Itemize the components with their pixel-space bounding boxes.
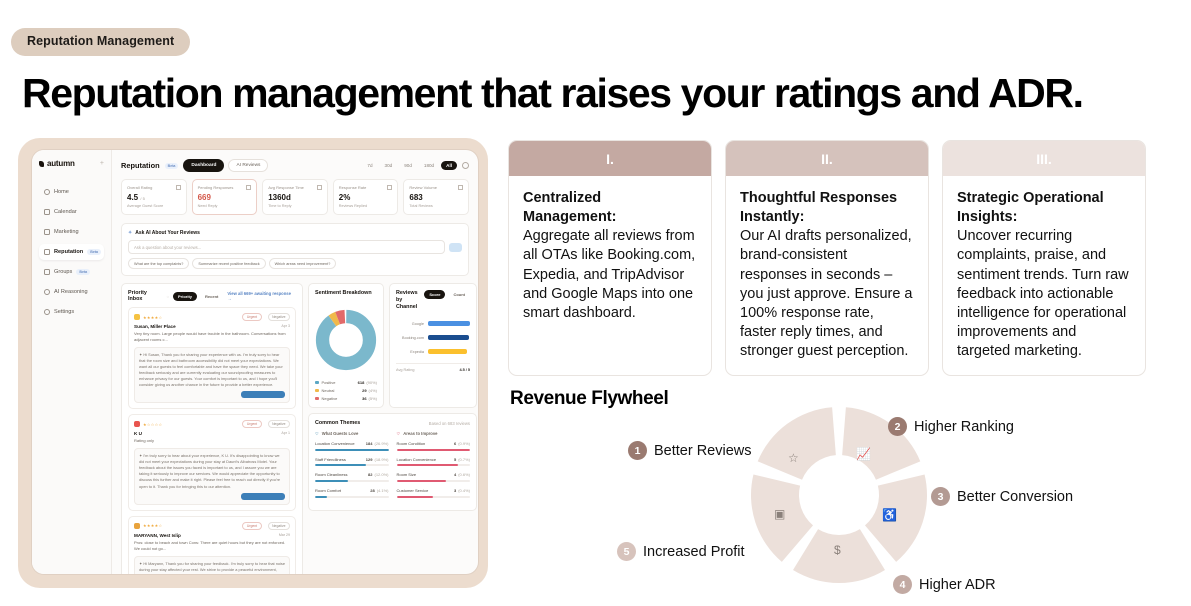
users-icon: ♿ (882, 509, 897, 521)
flywheel-step-label: Better Conversion (957, 489, 1073, 505)
theme-fill (397, 496, 434, 498)
channels-tabs: ScoreCount (424, 290, 470, 299)
review-date: Apr 1 (281, 431, 290, 436)
theme-top: Room Size 4 (0.6%) (397, 472, 471, 477)
channel-tab-count[interactable]: Count (448, 290, 470, 299)
feature-card-numeral: III. (943, 141, 1145, 176)
sentiment-title: Sentiment Breakdown (315, 290, 377, 296)
theme-label: Room Comfort (315, 488, 341, 493)
channel-bars: Google Booking.com Expedia (396, 315, 470, 354)
theme-fill (397, 480, 446, 482)
flywheel-step-label: Higher ADR (919, 577, 996, 593)
sidebar-item-label: Reputation (54, 249, 83, 255)
review-meta: ★★★★☆ Urgent Negative (134, 522, 290, 530)
legend-value: 618 (358, 380, 365, 385)
leaf-icon (39, 161, 44, 167)
info-icon: ◌ (167, 294, 169, 299)
theme-top: Room Comfort 28 (4.1%) (315, 488, 389, 493)
feature-card-numeral: II. (726, 141, 928, 176)
theme-fill (315, 449, 389, 451)
dashboard-tabs: DashboardAI Reviews (183, 159, 268, 172)
feature-card-text: Uncover recurring complaints, praise, an… (957, 228, 1129, 359)
kpi-value: 1360d (268, 193, 322, 202)
themes-header: Common Themes Based on 683 reviews (315, 420, 470, 426)
reviewer-name: MARYANN, West IslipMar 29 (134, 533, 290, 538)
range-90d[interactable]: 90d (399, 161, 417, 170)
review-list: ★★★★☆ Urgent Negative Susan, Miller Plac… (128, 307, 296, 574)
star-icon: ☆ (788, 452, 799, 464)
rating-stars: ★★★★☆ (143, 523, 162, 528)
theme-pct: (0.7%) (458, 457, 470, 462)
flywheel-step: 2 Higher Ranking (888, 417, 1014, 436)
kpi-sub: Total Reviews (409, 204, 463, 208)
sidebar-item-label: Marketing (54, 229, 79, 235)
theme-pct: (0.4%) (458, 488, 470, 493)
theme-top: Location Convenience 184 (26.9%) (315, 441, 389, 446)
thumbs-up-icon: ♡ (315, 431, 319, 436)
dashboard-content-grid: Priority Inbox ◌ PriorityRecent View all… (121, 283, 469, 574)
brand-name: autumn (47, 159, 75, 168)
kpi-row: Overall Rating 4.5 / 5 Average Guest Sco… (121, 179, 469, 215)
channels-card: Reviews by Channel ScoreCount Google Boo… (389, 283, 477, 408)
ask-ai-input-row: Ask a question about your reviews... (128, 240, 462, 254)
star-icon (44, 249, 50, 255)
sidebar-item-label: Home (54, 189, 69, 195)
review-meta: ★★★★☆ Urgent Negative (134, 313, 290, 321)
priority-inbox-column: Priority Inbox ◌ PriorityRecent View all… (121, 283, 303, 574)
kpi-label: Avg Response Time (268, 185, 304, 190)
kpi-card: Response Rate 2% Reviews Replied (333, 179, 399, 215)
sidebar-item-settings[interactable]: Settings (39, 304, 104, 320)
theme-top: Room Cleanliness 82 (12.0%) (315, 472, 389, 477)
tab-ai-reviews[interactable]: AI Reviews (228, 159, 268, 172)
theme-fill (315, 464, 366, 466)
feature-card: II. Thoughtful Responses Instantly:Our A… (725, 140, 929, 376)
theme-item: Room Size 4 (0.6%) (397, 472, 471, 482)
review-text: Rating only (134, 438, 290, 444)
megaphone-icon (44, 229, 50, 235)
feature-card-body: Strategic Operational Insights:Uncover r… (943, 176, 1145, 375)
rating-stars: ★☆☆☆☆ (143, 422, 162, 427)
review-meta: ★☆☆☆☆ Urgent Negative (134, 420, 290, 428)
theme-item: Staff Friendliness 129 (18.9%) (315, 457, 389, 467)
theme-count: 129 (366, 457, 373, 462)
priority-inbox-card: Priority Inbox ◌ PriorityRecent View all… (121, 283, 303, 574)
themes-love-column: ♡ What Guests Love Location Convenience … (315, 431, 389, 504)
legend-swatch (315, 397, 319, 401)
channel-bar (428, 335, 469, 340)
kpi-label-row: Pending Responses (198, 185, 252, 190)
channel-bar-row: Expedia (396, 349, 470, 354)
legend-label: Negative (322, 396, 338, 401)
themes-love-heading: ♡ What Guests Love (315, 431, 389, 436)
tab-dashboard[interactable]: Dashboard (183, 159, 224, 172)
theme-item: Location Convenience 5 (0.7%) (397, 457, 471, 467)
star-icon (176, 185, 181, 190)
kpi-sub: Reviews Replied (339, 204, 393, 208)
rating-stars: ★★★★☆ (143, 315, 162, 320)
range-All[interactable]: All (441, 161, 457, 170)
kpi-card: Avg Response Time 1360d Time to Reply (262, 179, 328, 215)
flywheel-step: 4 Higher ADR (893, 575, 996, 594)
theme-count: 4 (454, 472, 456, 477)
gear-icon[interactable] (462, 162, 469, 169)
legend-pct: (4%) (369, 388, 377, 393)
review-item: ★★★★☆ Urgent Negative Susan, Miller Plac… (128, 307, 296, 409)
theme-pct: (12.0%) (374, 472, 388, 477)
sidebar-item-label: Settings (54, 309, 74, 315)
feature-cards: I. Centralized Management:Aggregate all … (508, 140, 1146, 376)
kpi-label: Response Rate (339, 185, 367, 190)
sidebar-item-label: Calendar (54, 209, 77, 215)
kpi-value: 683 (409, 193, 463, 202)
avatar (134, 421, 140, 427)
ai-reply: ✦ I'm truly sorry to hear about your exp… (134, 448, 290, 504)
priority-inbox-tabs: PriorityRecent (173, 292, 223, 301)
themes-love-list: Location Convenience 184 (26.9%) Staff F… (315, 441, 389, 498)
donut-chart (315, 309, 377, 371)
channel-bar (428, 321, 470, 326)
theme-top: Location Convenience 5 (0.7%) (397, 457, 471, 462)
theme-track (397, 496, 471, 498)
flywheel-step-number: 2 (888, 417, 907, 436)
theme-count: 6 (454, 441, 456, 446)
sparkle-icon: ✦ (128, 230, 132, 236)
dollar-icon: $ (834, 544, 841, 556)
theme-track (315, 496, 389, 498)
tag-urgent: Urgent (242, 522, 261, 530)
grid-icon (458, 185, 463, 190)
bar-chart-icon (387, 185, 392, 190)
sidebar-badge: Beta (76, 269, 90, 275)
flywheel-step-number: 1 (628, 441, 647, 460)
flywheel-step-number: 3 (931, 487, 950, 506)
tag-urgent: Urgent (242, 313, 261, 321)
analytics-column: Sentiment Breakdown Positive 618 (308, 283, 477, 574)
flywheel-step-label: Better Reviews (654, 443, 752, 459)
legend-value: 36 (362, 396, 366, 401)
lightbulb-icon: ♡ (397, 431, 401, 436)
priority-inbox-title: Priority Inbox (128, 290, 163, 302)
tag-sentiment: Negative (268, 420, 290, 428)
priority-inbox-header: Priority Inbox ◌ PriorityRecent View all… (128, 290, 296, 302)
feature-card-title: Thoughtful Responses Instantly: (740, 190, 897, 225)
kpi-label-row: Response Rate (339, 185, 393, 190)
channels-footer: Avg Rating 4.5 / 5 (396, 363, 470, 372)
kpi-value: 4.5 / 5 (127, 193, 181, 202)
kpi-value: 2% (339, 193, 393, 202)
dashboard-screen: autumn + Home Calendar Marketing Reputat… (32, 150, 478, 574)
kpi-label: Pending Responses (198, 185, 234, 190)
clock-icon (317, 185, 322, 190)
sidebar-item-label: Groups (54, 269, 72, 275)
kpi-card: Pending Responses 669 Need Reply (192, 179, 258, 215)
flywheel-step: 5 Increased Profit (617, 542, 745, 561)
review-item: ★★★★☆ Urgent Negative MARYANN, West Isli… (128, 516, 296, 574)
flywheel-step-label: Higher Ranking (914, 419, 1014, 435)
feature-card-body: Thoughtful Responses Instantly:Our AI dr… (726, 176, 928, 375)
sidebar-item-home[interactable]: Home (39, 184, 104, 200)
review-text: Very tiny room. Large people would have … (134, 331, 290, 343)
flywheel-step: 3 Better Conversion (931, 487, 1073, 506)
sidebar-item-ai-reasoning[interactable]: AI Reasoning (39, 284, 104, 300)
legend-item: Positive 618 (90%) (315, 380, 377, 385)
channel-bar (428, 349, 467, 354)
theme-label: Location Convenience (315, 441, 355, 446)
theme-count: 82 (368, 472, 372, 477)
legend-swatch (315, 381, 319, 385)
copy-publish-button[interactable] (241, 493, 285, 500)
theme-label: Room Cleanliness (315, 472, 347, 477)
theme-track (397, 480, 471, 482)
kpi-value: 669 (198, 193, 252, 202)
themes-meta: Based on 683 reviews (429, 421, 470, 426)
page-root: Reputation Management Reputation managem… (0, 0, 1191, 606)
sentiment-donut (315, 301, 377, 377)
theme-track (397, 464, 471, 466)
tag-sentiment: Negative (268, 313, 290, 321)
flywheel-step-label: Increased Profit (643, 544, 745, 560)
themes-improve-heading: ♡ Areas to Improve (397, 431, 471, 436)
suggestion-chip[interactable]: What are the top complaints? (128, 258, 189, 269)
dashboard-main: Reputation Beta DashboardAI Reviews 7d30… (112, 150, 478, 574)
themes-improve-label: Areas to Improve (403, 431, 437, 436)
feature-card-text: Aggregate all reviews from all OTAs like… (523, 228, 695, 321)
sentiment-card: Sentiment Breakdown Positive 618 (308, 283, 384, 408)
theme-label: Room Size (397, 472, 417, 477)
sparkle-icon (44, 289, 50, 295)
theme-item: Location Convenience 184 (26.9%) (315, 441, 389, 451)
eyebrow-pill: Reputation Management (11, 28, 190, 56)
ai-reply: ✦ Hi Maryann, Thank you for sharing your… (134, 556, 290, 574)
home-icon (44, 189, 50, 195)
theme-track (315, 480, 389, 482)
kpi-sub: Average Guest Score (127, 204, 181, 208)
theme-pct: (18.9%) (374, 457, 388, 462)
theme-pct: (0.6%) (458, 472, 470, 477)
suggestion-chip[interactable]: Summarize recent positive feedback (192, 258, 265, 269)
sidebar-item-groups[interactable]: Groups Beta (39, 264, 104, 280)
brand-logo: autumn + (39, 159, 104, 168)
theme-label: Location Convenience (397, 457, 437, 462)
kpi-label-row: Review Volume (409, 185, 463, 190)
legend-item: Neutral 29 (4%) (315, 388, 377, 393)
theme-count: 184 (366, 441, 373, 446)
theme-count: 28 (370, 488, 374, 493)
tag-urgent: Urgent (242, 420, 261, 428)
theme-item: Customer Service 3 (0.4%) (397, 488, 471, 498)
legend-item: Negative 36 (5%) (315, 396, 377, 401)
channel-label: Booking.com (396, 336, 424, 340)
review-date: Apr 3 (281, 324, 290, 329)
view-all-link[interactable]: View all 669+ awaiting response → (227, 291, 296, 301)
avatar (134, 314, 140, 320)
kpi-card: Review Volume 683 Total Reviews (403, 179, 469, 215)
review-text: Pros: close to beach and town Cons: Ther… (134, 540, 290, 552)
theme-label: Room Condition (397, 441, 426, 446)
flywheel-step: 1 Better Reviews (628, 441, 752, 460)
theme-track (315, 449, 389, 451)
inbox-tab-recent[interactable]: Recent (200, 292, 223, 301)
theme-track (397, 449, 471, 451)
kpi-sub: Need Reply (198, 204, 252, 208)
feature-card-title: Strategic Operational Insights: (957, 190, 1104, 225)
suggestion-chip[interactable]: Which areas need improvement? (269, 258, 337, 269)
alert-icon (246, 185, 251, 190)
ask-ai-title-row: ✦ Ask AI About Your Reviews (128, 230, 462, 236)
ai-reply: ✦ Hi Susan, Thank you for sharing your e… (134, 347, 290, 403)
kpi-label: Overall Rating (127, 185, 152, 190)
theme-label: Customer Service (397, 488, 429, 493)
themes-love-label: What Guests Love (322, 431, 359, 436)
theme-top: Room Condition 6 (0.9%) (397, 441, 471, 446)
flywheel-title: Revenue Flywheel (510, 388, 668, 410)
theme-top: Staff Friendliness 129 (18.9%) (315, 457, 389, 462)
channels-footer-label: Avg Rating (396, 368, 415, 372)
banknote-icon: ▣ (774, 508, 785, 520)
review-date: Mar 29 (279, 533, 290, 538)
reviewer-name: K UApr 1 (134, 431, 290, 436)
range-7d[interactable]: 7d (362, 161, 377, 170)
channel-bar-row: Google (396, 321, 470, 326)
theme-track (315, 464, 389, 466)
themes-improve-column: ♡ Areas to Improve Room Condition 6 (0.9… (397, 431, 471, 504)
legend-pct: (90%) (366, 380, 377, 385)
kpi-label: Review Volume (409, 185, 437, 190)
themes-title: Common Themes (315, 420, 360, 426)
date-range-filters: 7d30d90d180dAll (362, 161, 457, 170)
dashboard-mockup-frame: autumn + Home Calendar Marketing Reputat… (18, 138, 488, 588)
channels-title: Reviews by Channel (396, 290, 420, 310)
feature-card: III. Strategic Operational Insights:Unco… (942, 140, 1146, 376)
sidebar-badge: Beta (87, 249, 101, 255)
reviewer-name: Susan, Miller PlaceApr 3 (134, 324, 290, 329)
sidebar-nav: Home Calendar Marketing Reputation Beta … (39, 184, 104, 320)
theme-label: Staff Friendliness (315, 457, 346, 462)
theme-fill (315, 480, 348, 482)
trend-up-icon: 📈 (856, 448, 871, 460)
channel-label: Google (396, 322, 424, 326)
theme-pct: (4.1%) (377, 488, 389, 493)
sidebar-item-marketing[interactable]: Marketing (39, 224, 104, 240)
feature-card-numeral: I. (509, 141, 711, 176)
sidebar-item-reputation[interactable]: Reputation Beta (39, 244, 104, 260)
channel-bar-row: Booking.com (396, 335, 470, 340)
calendar-icon (44, 209, 50, 215)
theme-fill (315, 496, 327, 498)
theme-count: 3 (454, 488, 456, 493)
theme-item: Room Condition 6 (0.9%) (397, 441, 471, 451)
dashboard-page-title: Reputation (121, 161, 160, 170)
kpi-card: Overall Rating 4.5 / 5 Average Guest Sco… (121, 179, 187, 215)
feature-card-body: Centralized Management:Aggregate all rev… (509, 176, 711, 337)
feature-card-title: Centralized Management: (523, 190, 616, 225)
theme-count: 5 (454, 457, 456, 462)
page-title: Reputation management that raises your r… (22, 70, 1083, 117)
dashboard-topbar: Reputation Beta DashboardAI Reviews 7d30… (121, 159, 469, 172)
theme-pct: (26.9%) (374, 441, 388, 446)
range-180d[interactable]: 180d (419, 161, 439, 170)
legend-value: 29 (362, 388, 366, 393)
legend-label: Neutral (322, 388, 335, 393)
channels-footer-value: 4.5 / 5 (459, 368, 470, 372)
ask-ai-title: Ask AI About Your Reviews (135, 230, 200, 236)
flywheel-step-number: 4 (893, 575, 912, 594)
gear-icon (44, 309, 50, 315)
theme-fill (397, 449, 471, 451)
users-icon (44, 269, 50, 275)
ask-ai-input[interactable]: Ask a question about your reviews... (128, 240, 445, 254)
avatar (134, 523, 140, 529)
kpi-label-row: Avg Response Time (268, 185, 322, 190)
sentiment-legend: Positive 618 (90%) Neutral 29 (4%) Negat… (315, 380, 377, 401)
theme-top: Customer Service 3 (0.4%) (397, 488, 471, 493)
themes-columns: ♡ What Guests Love Location Convenience … (315, 431, 470, 504)
flywheel-step-number: 5 (617, 542, 636, 561)
feature-card: I. Centralized Management:Aggregate all … (508, 140, 712, 376)
feature-card-text: Our AI drafts personalized, brand-consis… (740, 228, 913, 359)
channel-tab-score[interactable]: Score (424, 290, 445, 299)
add-icon[interactable]: + (100, 160, 104, 167)
themes-improve-list: Room Condition 6 (0.9%) Location Conveni… (397, 441, 471, 498)
legend-pct: (5%) (369, 396, 377, 401)
flywheel-segment (758, 407, 836, 479)
tag-sentiment: Negative (268, 522, 290, 530)
copy-publish-button[interactable] (241, 391, 285, 398)
sidebar-item-label: AI Reasoning (54, 289, 88, 295)
theme-item: Room Cleanliness 82 (12.0%) (315, 472, 389, 482)
sidebar-item-calendar[interactable]: Calendar (39, 204, 104, 220)
range-30d[interactable]: 30d (380, 161, 398, 170)
page-beta-badge: Beta (165, 163, 179, 169)
legend-swatch (315, 389, 319, 393)
review-item: ★☆☆☆☆ Urgent Negative K UApr 1 Rating on… (128, 414, 296, 510)
channel-label: Expedia (396, 350, 424, 354)
legend-label: Positive (322, 380, 336, 385)
send-icon[interactable] (449, 243, 462, 252)
kpi-label-row: Overall Rating (127, 185, 181, 190)
dashboard-sidebar: autumn + Home Calendar Marketing Reputat… (32, 150, 112, 574)
theme-item: Room Comfort 28 (4.1%) (315, 488, 389, 498)
theme-pct: (0.9%) (458, 441, 470, 446)
inbox-tab-priority[interactable]: Priority (173, 292, 197, 301)
common-themes-card: Common Themes Based on 683 reviews ♡ Wha… (308, 413, 477, 511)
ask-ai-suggestion-chips: What are the top complaints?Summarize re… (128, 258, 462, 269)
theme-fill (397, 464, 458, 466)
ask-ai-panel: ✦ Ask AI About Your Reviews Ask a questi… (121, 223, 469, 276)
kpi-sub: Time to Reply (268, 204, 322, 208)
channels-header: Reviews by Channel ScoreCount (396, 290, 470, 310)
